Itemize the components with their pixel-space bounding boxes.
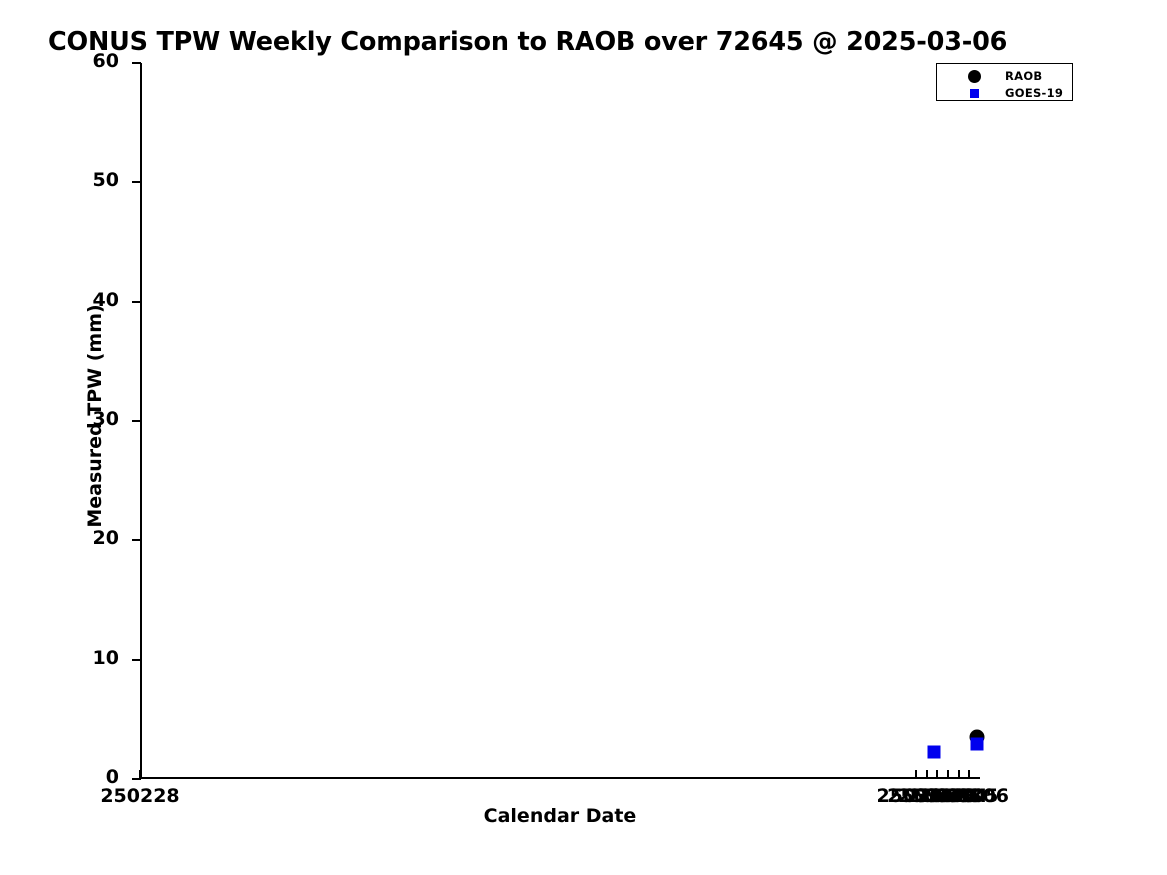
x-tick-mark	[968, 770, 970, 779]
x-tick-mark	[958, 770, 960, 779]
scatter-canvas	[142, 63, 982, 779]
y-tick-mark	[132, 420, 141, 422]
data-point-goes-19	[928, 745, 941, 758]
y-tick-mark	[132, 539, 141, 541]
legend-label: GOES-19	[1005, 86, 1063, 100]
plot-area	[140, 63, 980, 779]
legend-item-raob[interactable]: RAOB	[937, 67, 1072, 85]
x-tick-mark	[915, 770, 917, 779]
x-tick-label: 250228	[80, 785, 200, 807]
x-axis-title: Calendar Date	[140, 805, 980, 827]
circle-marker-icon	[963, 70, 985, 83]
y-tick-mark	[132, 659, 141, 661]
x-tick-mark	[936, 770, 938, 779]
chart-figure: CONUS TPW Weekly Comparison to RAOB over…	[0, 0, 1167, 875]
page-title: CONUS TPW Weekly Comparison to RAOB over…	[48, 27, 1007, 57]
chart-legend[interactable]: RAOBGOES-19	[936, 63, 1073, 101]
y-tick-mark	[132, 181, 141, 183]
x-tick-mark	[926, 770, 928, 779]
x-tick-label: 250306	[909, 785, 1029, 807]
y-tick-mark	[132, 62, 141, 64]
legend-item-goes-19[interactable]: GOES-19	[937, 84, 1072, 102]
square-marker-icon	[963, 89, 985, 98]
x-tick-mark	[139, 770, 141, 779]
data-point-goes-19	[970, 738, 983, 751]
y-tick-mark	[132, 301, 141, 303]
y-axis-title: Measured TPW (mm)	[84, 66, 106, 766]
x-tick-mark	[947, 770, 949, 779]
legend-label: RAOB	[1005, 69, 1043, 83]
